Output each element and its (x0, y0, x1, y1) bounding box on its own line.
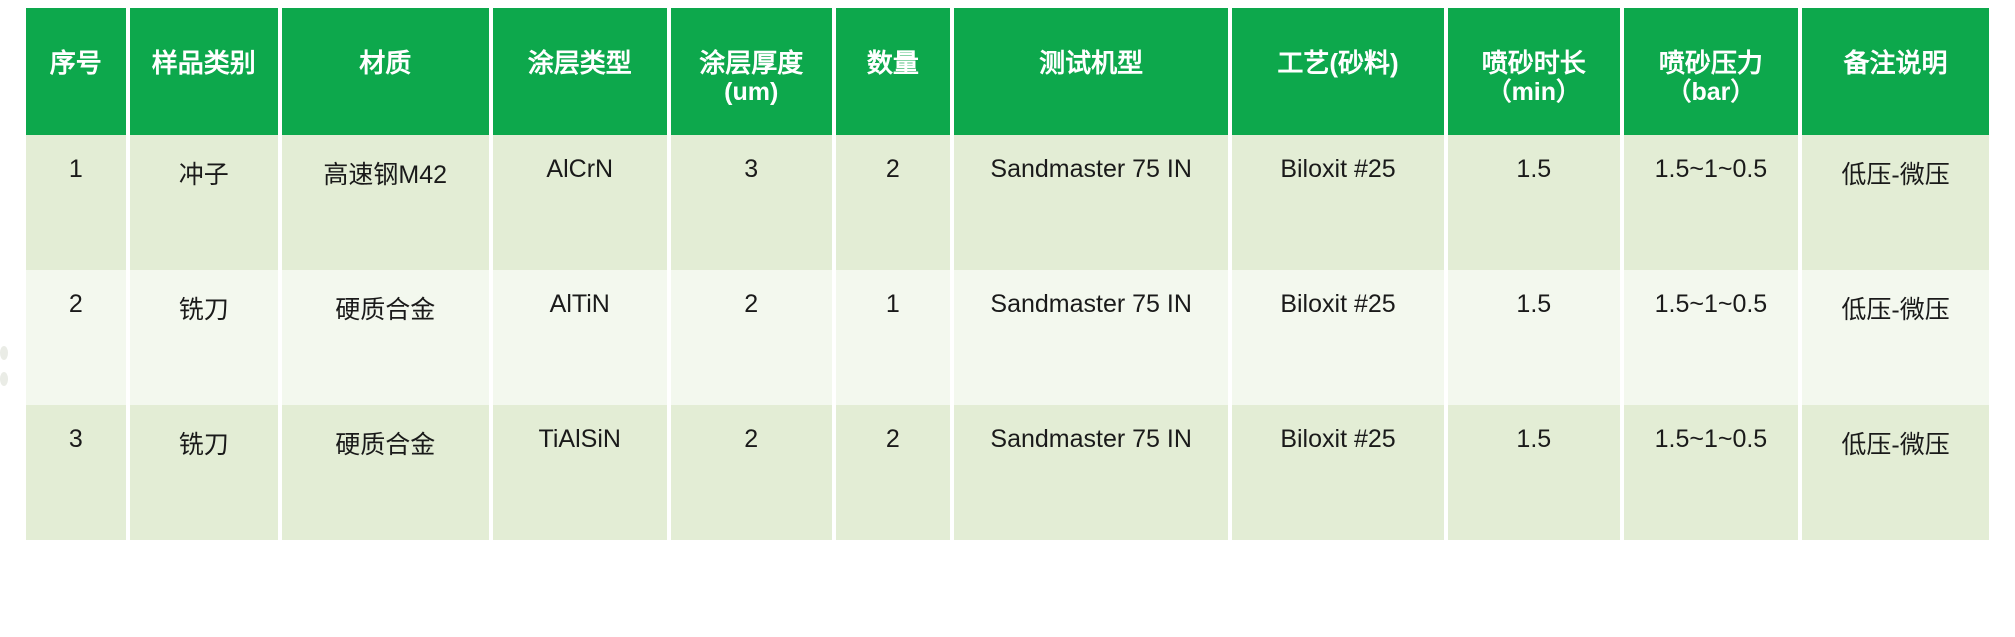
cell-remarks[interactable]: 低压-微压 (1802, 270, 1989, 405)
cell-blast-pressure[interactable]: 1.5~1~0.5 (1624, 405, 1798, 540)
cell-blast-pressure[interactable]: 1.5~1~0.5 (1624, 135, 1798, 270)
column-header-label: 样品类别 (152, 48, 256, 78)
table-header-row: 序号 样品类别 材质 涂层类型 涂层厚度 (um) (26, 8, 1989, 135)
column-header-label: 测试机型 (1039, 48, 1143, 78)
column-header-process-media[interactable]: 工艺(砂料) (1232, 8, 1444, 135)
column-header-blast-pressure[interactable]: 喷砂压力 （bar） (1624, 8, 1798, 135)
cell-blast-time[interactable]: 1.5 (1448, 270, 1620, 405)
cell-sample-category[interactable]: 铣刀 (130, 405, 278, 540)
cell-seq[interactable]: 1 (26, 135, 126, 270)
cell-material[interactable]: 硬质合金 (282, 405, 489, 540)
cell-coating-thickness[interactable]: 3 (671, 135, 832, 270)
cell-coating-thickness[interactable]: 2 (671, 405, 832, 540)
cell-sample-category[interactable]: 冲子 (130, 135, 278, 270)
column-header-sample-category[interactable]: 样品类别 (130, 8, 278, 135)
cell-coating-type[interactable]: AlTiN (493, 270, 667, 405)
cell-remarks[interactable]: 低压-微压 (1802, 405, 1989, 540)
cell-coating-thickness[interactable]: 2 (671, 270, 832, 405)
cell-process-media[interactable]: Biloxit #25 (1232, 135, 1444, 270)
column-header-label: 数量 (867, 48, 919, 78)
column-header-label: 材质 (359, 48, 411, 78)
cell-remarks[interactable]: 低压-微压 (1802, 135, 1989, 270)
column-header-label: 喷砂压力 (1659, 48, 1763, 78)
scan-artifact-speck (0, 346, 8, 360)
column-header-unit: （bar） (1626, 78, 1796, 106)
cell-seq[interactable]: 2 (26, 270, 126, 405)
column-header-seq[interactable]: 序号 (26, 8, 126, 135)
cell-blast-time[interactable]: 1.5 (1448, 405, 1620, 540)
column-header-label: 涂层厚度 (699, 48, 803, 78)
column-header-test-machine[interactable]: 测试机型 (954, 8, 1228, 135)
sample-test-plan-table: 序号 样品类别 材质 涂层类型 涂层厚度 (um) (22, 8, 1993, 540)
cell-process-media[interactable]: Biloxit #25 (1232, 405, 1444, 540)
column-header-label: 工艺(砂料) (1277, 48, 1398, 78)
table-header: 序号 样品类别 材质 涂层类型 涂层厚度 (um) (26, 8, 1989, 135)
cell-coating-type[interactable]: TiAlSiN (493, 405, 667, 540)
column-header-coating-thickness[interactable]: 涂层厚度 (um) (671, 8, 832, 135)
cell-test-machine[interactable]: Sandmaster 75 IN (954, 405, 1228, 540)
table-row[interactable]: 1 冲子 高速钢M42 AlCrN 3 2 Sandmaster 75 IN B… (26, 135, 1989, 270)
table-row[interactable]: 3 铣刀 硬质合金 TiAlSiN 2 2 Sandmaster 75 IN B… (26, 405, 1989, 540)
column-header-label: 备注说明 (1844, 48, 1948, 78)
table-body: 1 冲子 高速钢M42 AlCrN 3 2 Sandmaster 75 IN B… (26, 135, 1989, 540)
cell-material[interactable]: 硬质合金 (282, 270, 489, 405)
column-header-label: 序号 (50, 48, 102, 78)
column-header-unit: （min） (1450, 78, 1618, 106)
cell-process-media[interactable]: Biloxit #25 (1232, 270, 1444, 405)
cell-material[interactable]: 高速钢M42 (282, 135, 489, 270)
column-header-coating-type[interactable]: 涂层类型 (493, 8, 667, 135)
cell-test-machine[interactable]: Sandmaster 75 IN (954, 135, 1228, 270)
column-header-unit: (um) (673, 78, 830, 106)
cell-test-machine[interactable]: Sandmaster 75 IN (954, 270, 1228, 405)
column-header-quantity[interactable]: 数量 (836, 8, 951, 135)
scan-artifact-speck (0, 372, 8, 386)
cell-sample-category[interactable]: 铣刀 (130, 270, 278, 405)
table-row[interactable]: 2 铣刀 硬质合金 AlTiN 2 1 Sandmaster 75 IN Bil… (26, 270, 1989, 405)
cell-seq[interactable]: 3 (26, 405, 126, 540)
cell-quantity[interactable]: 1 (836, 270, 951, 405)
column-header-label: 涂层类型 (528, 48, 632, 78)
cell-quantity[interactable]: 2 (836, 135, 951, 270)
column-header-label: 喷砂时长 (1482, 48, 1586, 78)
cell-coating-type[interactable]: AlCrN (493, 135, 667, 270)
spreadsheet-canvas: 序号 样品类别 材质 涂层类型 涂层厚度 (um) (0, 0, 2015, 637)
column-header-remarks[interactable]: 备注说明 (1802, 8, 1989, 135)
cell-blast-time[interactable]: 1.5 (1448, 135, 1620, 270)
cell-blast-pressure[interactable]: 1.5~1~0.5 (1624, 270, 1798, 405)
cell-quantity[interactable]: 2 (836, 405, 951, 540)
column-header-blast-time[interactable]: 喷砂时长 （min） (1448, 8, 1620, 135)
column-header-material[interactable]: 材质 (282, 8, 489, 135)
